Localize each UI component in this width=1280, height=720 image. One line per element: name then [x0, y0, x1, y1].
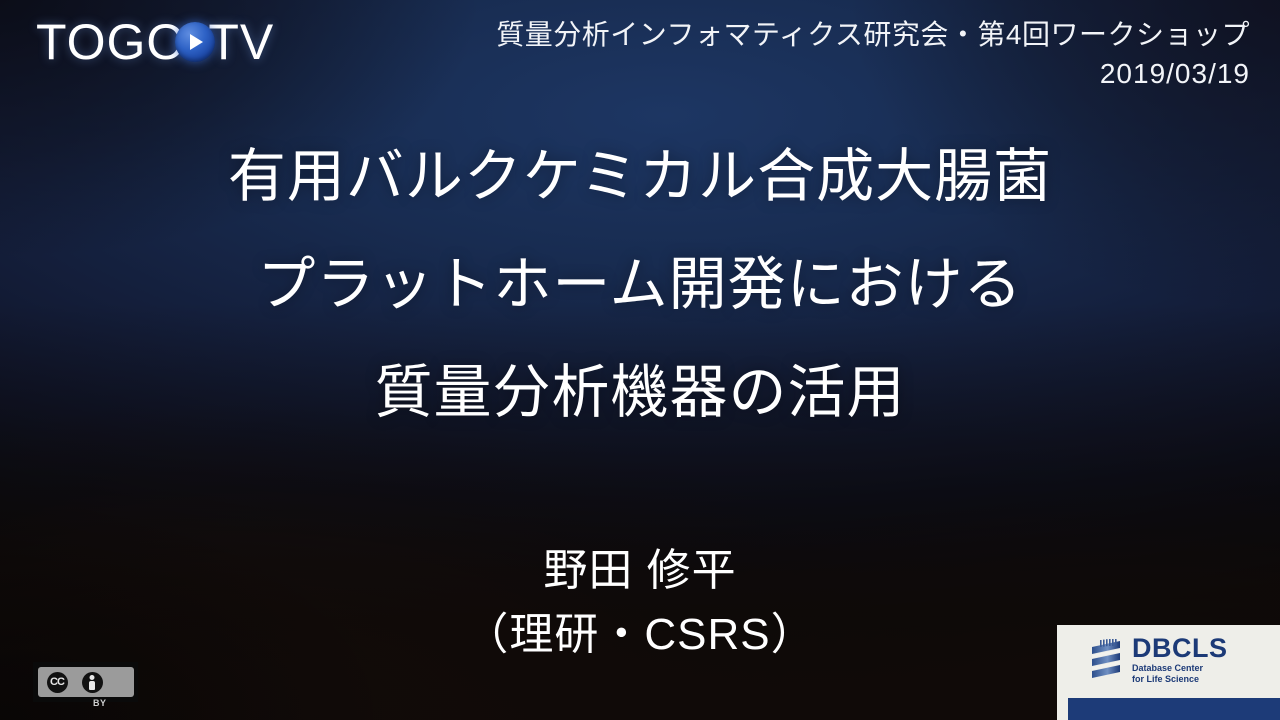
- logo-word-tv: TV: [208, 17, 274, 67]
- dbcls-logo: DBCLS Database Center for Life Science: [1057, 625, 1280, 685]
- presentation-date: 2019/03/19: [496, 56, 1250, 92]
- dbcls-wordmark: DBCLS Database Center for Life Science: [1132, 636, 1228, 685]
- cc-icon: CC: [47, 672, 68, 693]
- title-line-2: プラットホーム開発における: [0, 256, 1280, 314]
- dbcls-stripes-icon: [1089, 639, 1123, 683]
- cc-by-label: BY: [93, 698, 107, 708]
- title-line-3: 質量分析機器の活用: [0, 364, 1280, 422]
- dbcls-tagline-line-2: for Life Science: [1132, 674, 1228, 685]
- page-title: 有用バルクケミカル合成大腸菌 プラットホーム開発における 質量分析機器の活用: [0, 148, 1280, 422]
- title-line-1: 有用バルクケミカル合成大腸菌: [0, 148, 1280, 206]
- dbcls-name: DBCLS: [1132, 636, 1228, 662]
- dbcls-sponsor-panel: DBCLS Database Center for Life Science: [1057, 625, 1280, 720]
- presenter-name: 野田 修平: [0, 548, 1280, 594]
- dbcls-blue-bar: [1068, 698, 1280, 720]
- creative-commons-by-badge: CC BY: [33, 662, 138, 702]
- play-triangle-icon: [190, 34, 203, 50]
- person-head-icon: [90, 675, 95, 680]
- cc-badge-plate: CC BY: [38, 667, 134, 697]
- logo-word-togo: TOGO: [36, 17, 186, 67]
- togotv-logo: TOGO TV: [36, 14, 274, 70]
- person-body-icon: [89, 681, 95, 690]
- person-icon: [82, 672, 103, 693]
- conference-title: 質量分析インフォマティクス研究会・第4回ワークショップ: [496, 18, 1250, 52]
- slide-header: 質量分析インフォマティクス研究会・第4回ワークショップ 2019/03/19: [496, 18, 1250, 92]
- presentation-slide: TOGO TV 質量分析インフォマティクス研究会・第4回ワークショップ 2019…: [0, 0, 1280, 720]
- dbcls-tagline-line-1: Database Center: [1132, 663, 1228, 674]
